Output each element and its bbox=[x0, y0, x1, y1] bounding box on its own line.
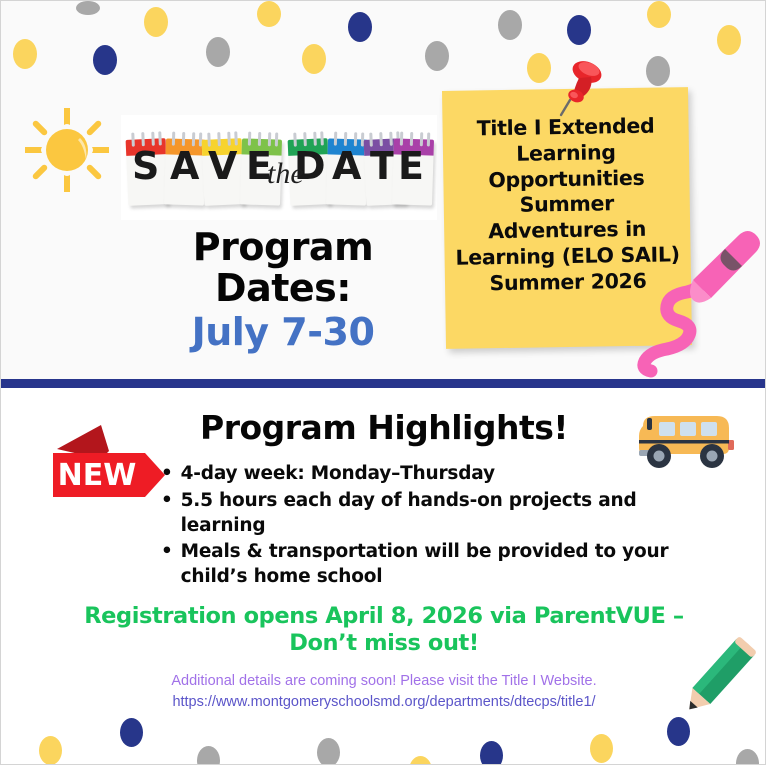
confetti-dot bbox=[197, 746, 220, 765]
confetti-dot bbox=[736, 749, 759, 765]
confetti-dot bbox=[120, 718, 143, 747]
confetti-dot bbox=[409, 756, 432, 765]
confetti-dot bbox=[667, 717, 690, 746]
confetti-dot bbox=[480, 741, 503, 765]
confetti-dot bbox=[590, 734, 613, 763]
confetti-dot bbox=[39, 736, 62, 765]
confetti-dot bbox=[317, 738, 340, 765]
confetti-bottom bbox=[1, 1, 766, 765]
flyer-canvas: SAVEDATEthe Program Dates: July 7-30 Tit… bbox=[0, 0, 766, 765]
